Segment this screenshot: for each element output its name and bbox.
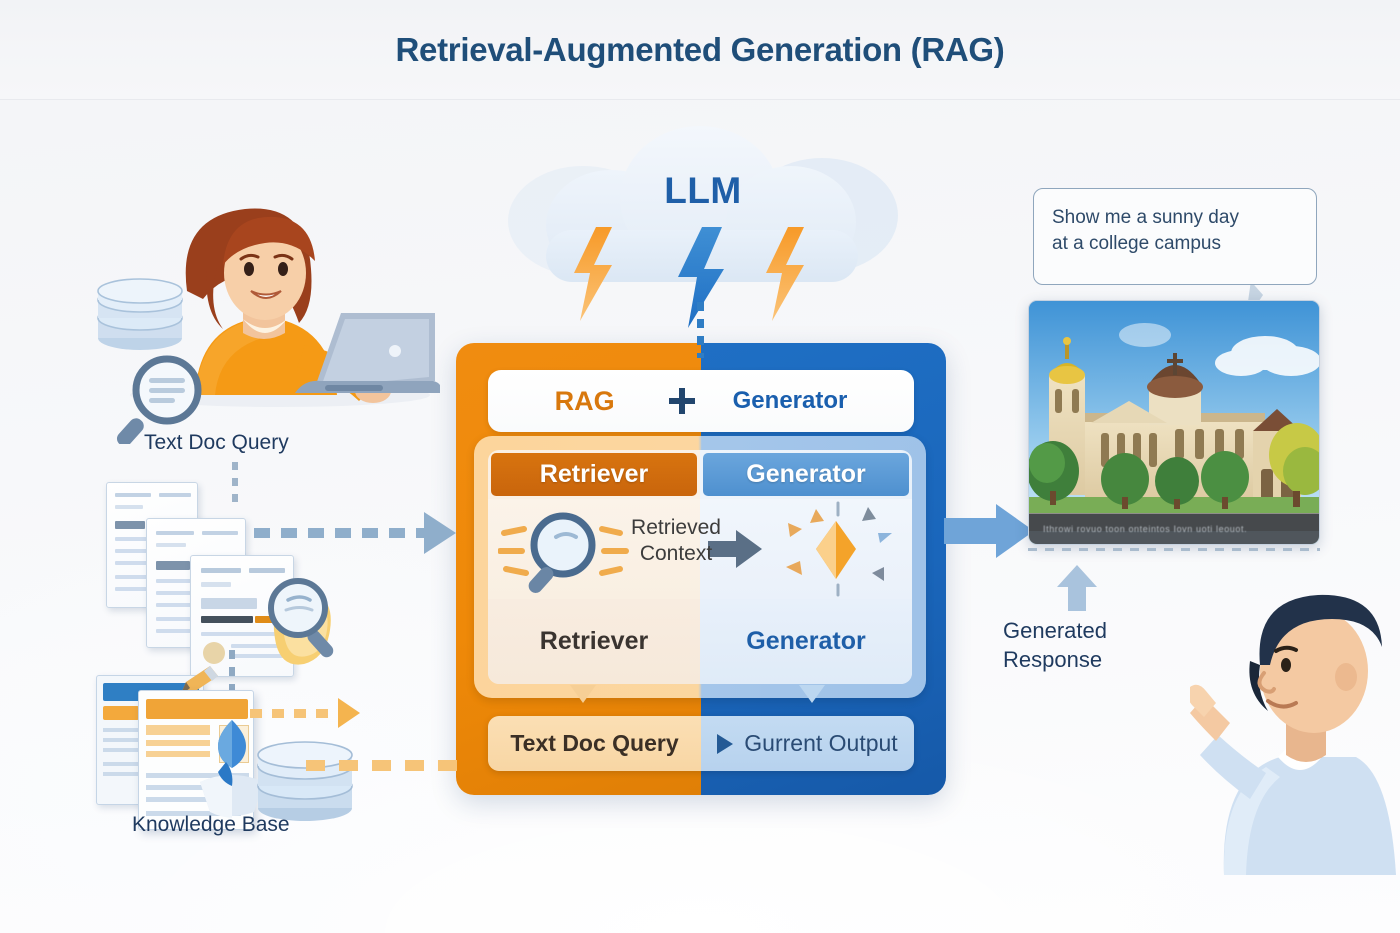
left-vertical-dotted-line <box>232 462 238 510</box>
rag-label: RAG <box>555 386 615 417</box>
lightning-bolt-orange-left-icon <box>574 227 612 321</box>
man-pointing-icon <box>1190 545 1400 875</box>
database-cylinder-icon <box>96 278 184 352</box>
page-title: Retrieval-Augmented Generation (RAG) <box>396 31 1005 69</box>
generator-header-label: Generator <box>733 387 848 415</box>
rag-panel: RAG Generator Retriever Generator <box>456 343 946 795</box>
rag-plus-generator-header: RAG Generator <box>488 370 914 432</box>
retriever-column-footer: Retriever <box>488 599 700 684</box>
current-output-label: Gurrent Output <box>744 730 897 757</box>
diagram-canvas: Retrieval-Augmented Generation (RAG) LLM <box>0 0 1400 933</box>
panel-to-image-arrow-icon <box>944 500 1036 562</box>
database-cylinder-icon <box>256 740 354 822</box>
retriever-icon-cell: Retrieved Context <box>488 499 700 599</box>
retriever-down-arrow-icon <box>570 685 596 703</box>
play-triangle-icon <box>717 734 733 754</box>
knowledge-base-caption: Knowledge Base <box>132 812 290 838</box>
panel-inner-card: Retriever Generator <box>488 450 912 684</box>
title-bar: Retrieval-Augmented Generation (RAG) <box>0 0 1400 100</box>
panel-inner-frame: Retriever Generator <box>474 436 926 698</box>
magnifying-glass-icon <box>258 572 346 660</box>
speech-bubble: Show me a sunny day at a college campus <box>1033 188 1317 285</box>
text-doc-query-cell: Text Doc Query <box>488 716 701 771</box>
generated-image-card: Ithrowi rovuo toon onteintos Iovn uoti l… <box>1028 300 1320 545</box>
retrieved-context-label: Retrieved Context <box>596 515 756 566</box>
retriever-column-header: Retriever <box>491 453 697 496</box>
generated-image-caption: Ithrowi rovuo toon onteintos Iovn uoti l… <box>1043 524 1247 534</box>
panel-bottom-row: Text Doc Query Gurrent Output <box>488 716 914 771</box>
current-output-cell: Gurrent Output <box>701 716 914 771</box>
arrow-up-icon <box>1057 565 1097 611</box>
generated-response-caption: Generated Response <box>1003 616 1107 674</box>
llm-label: LLM <box>508 170 898 212</box>
lightning-bolt-orange-right-icon <box>766 227 804 321</box>
text-doc-query-caption: Text Doc Query <box>144 430 289 456</box>
plus-icon <box>667 386 697 416</box>
generated-image-caption-bar: Ithrowi rovuo toon onteintos Iovn uoti l… <box>1029 514 1319 544</box>
generator-column-header: Generator <box>703 453 909 496</box>
sparkle-diamond-icon <box>772 499 900 599</box>
llm-to-panel-dashed-line <box>697 302 704 358</box>
generator-column-footer: Generator <box>700 599 912 684</box>
generator-down-arrow-icon <box>799 685 825 703</box>
college-campus-building-icon <box>1029 301 1320 545</box>
